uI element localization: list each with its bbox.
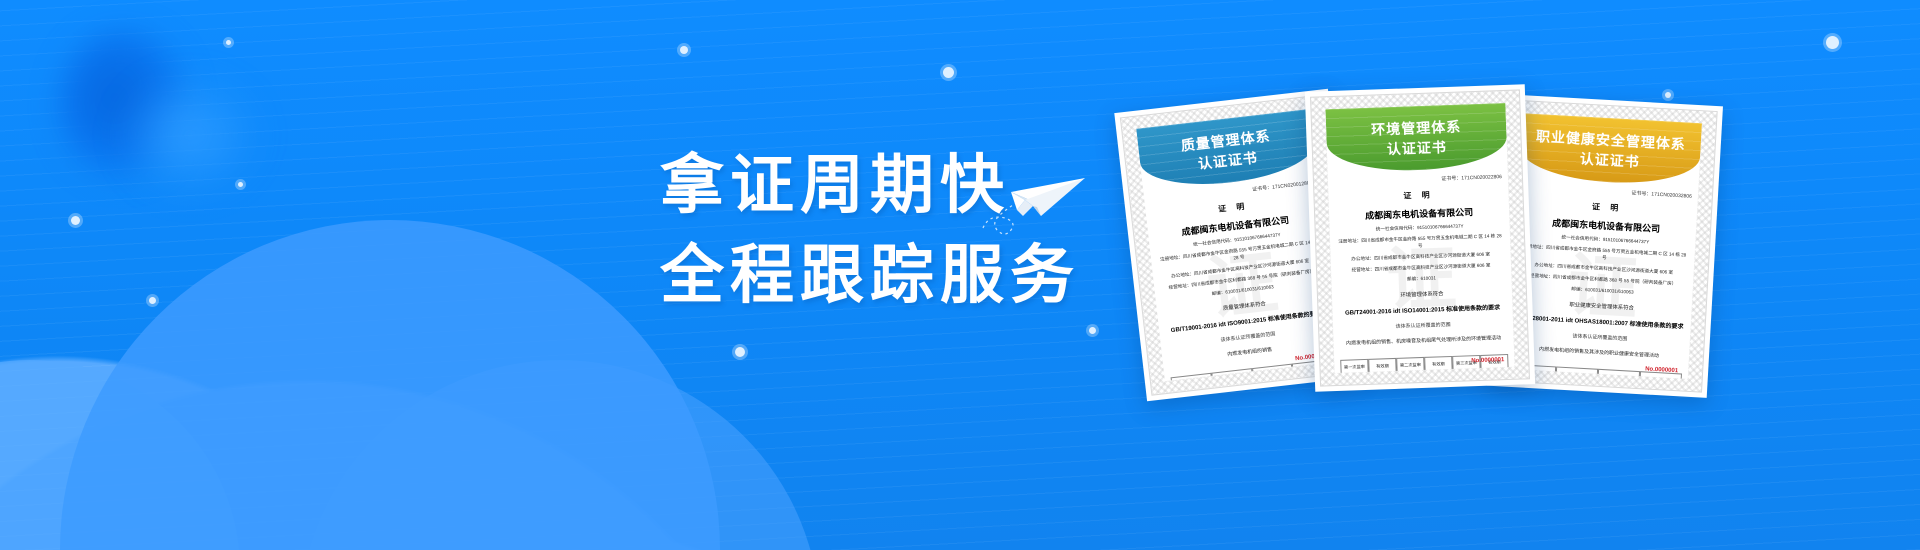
certificate-standard: GB/T24001-2016 idt ISO14001:2015 标准使用条款的… bbox=[1332, 302, 1512, 317]
certificate-system-label: 环境管理体系符合 bbox=[1332, 287, 1512, 301]
certificate-audit-cell: 第二次监审 bbox=[1396, 357, 1425, 373]
certificate-scope-label: 该体系认证所覆盖的范围 bbox=[1333, 319, 1513, 332]
decorative-dot bbox=[149, 297, 156, 304]
paper-plane-icon bbox=[975, 150, 1105, 240]
decorative-dot bbox=[1089, 327, 1096, 334]
promo-banner: 拿证周期快 全程跟踪服务 质量管理体系认证证书证证书号：171CN0200128… bbox=[0, 0, 1920, 550]
certificate-audit-cell: 有效期 bbox=[1368, 358, 1397, 373]
certificate-standard: GB/T28001-2011 idt OHSAS18001:2007 标准使用条… bbox=[1511, 312, 1691, 331]
certificate-postcode: 邮编：610031 bbox=[1331, 272, 1511, 285]
certificate-serial-number: 证书号：171CN020032806 bbox=[1518, 183, 1692, 200]
certificate-audit-cell: 第一次监审 bbox=[1171, 373, 1213, 381]
certificate-number: No.0000001 bbox=[1471, 357, 1504, 364]
certificate-proof-label: 证 明 bbox=[1328, 187, 1508, 204]
decorative-dot bbox=[1826, 36, 1839, 49]
certificate-audit-cell: 第二次监审 bbox=[1252, 364, 1294, 381]
decorative-dot bbox=[735, 347, 745, 357]
certificate-card-environmental-management-system[interactable]: 环境管理体系认证证书证证书号：171CN020022806证 明成都闽东电机设备… bbox=[1305, 84, 1535, 391]
certificate-title-line-1: 环境管理体系 bbox=[1371, 117, 1462, 140]
headline-line-2: 全程跟踪服务 bbox=[660, 230, 1080, 320]
certificate-scope: 内燃发电机组的销售、机房噪音及机组尾气处理所涉及的环境管理活动 bbox=[1334, 334, 1514, 348]
decorative-dot bbox=[943, 67, 954, 78]
certificate-audit-cell: 有效期 bbox=[1555, 366, 1598, 378]
decorative-dot bbox=[680, 46, 688, 54]
certificate-body: 职业健康安全管理体系认证证书证证书号：171CN020032806证 明成都闽东… bbox=[1508, 113, 1702, 379]
certificate-group: 质量管理体系认证证书证证书号：171CN020012806证 明成都闽东电机设备… bbox=[1120, 60, 1920, 490]
decorative-dot bbox=[226, 40, 231, 45]
certificate-audit-cell: 第一次监审 bbox=[1340, 359, 1369, 373]
certificate-header-banner: 环境管理体系认证证书 bbox=[1325, 103, 1507, 173]
certificate-company-name: 成都闽东电机设备有限公司 bbox=[1329, 204, 1509, 223]
certificate-verification-note: 证书有效性可通过认证机构网站或认监委网站查询；本证书注册信息可在中国国家认证认可… bbox=[1175, 379, 1334, 381]
certificate-header-banner: 职业健康安全管理体系认证证书 bbox=[1519, 113, 1702, 187]
decorative-dot bbox=[238, 182, 243, 187]
certificate-audit-cell: 第三次监审 bbox=[1597, 369, 1640, 379]
light-blue-glow-blob bbox=[120, 75, 260, 195]
decorative-dot bbox=[71, 216, 80, 225]
certificate-body: 环境管理体系认证证书证证书号：171CN020022806证 明成都闽东电机设备… bbox=[1325, 103, 1514, 373]
certificate-registered-address: 注册地址：四川省成都市金牛区金府路 555 号万贯五金机电城二期 C 区 14 … bbox=[1330, 232, 1510, 252]
certificate-audit-cell: 有效期 bbox=[1424, 356, 1453, 373]
decorative-arc-large bbox=[60, 220, 720, 550]
certificate-scope: 内燃发电机组的销售及其涉及的职业健康安全管理活动 bbox=[1509, 344, 1689, 362]
certificate-header-banner: 质量管理体系认证证书 bbox=[1136, 109, 1317, 192]
certificate-title-line-2: 认证证书 bbox=[1387, 137, 1448, 159]
certificate-title-line-2: 认证证书 bbox=[1579, 148, 1640, 171]
certificate-audit-cell: 有效period bbox=[1211, 368, 1253, 381]
certificate-guilloche-border: 环境管理体系认证证书证证书号：171CN020022806证 明成都闽东电机设备… bbox=[1310, 89, 1530, 386]
certificate-scope-label: 该体系认证所覆盖的范围 bbox=[1510, 329, 1690, 346]
certificate-system-label: 职业健康安全管理体系符合 bbox=[1512, 297, 1692, 315]
certificate-serial-number: 证书号：171CN020022806 bbox=[1328, 173, 1502, 186]
